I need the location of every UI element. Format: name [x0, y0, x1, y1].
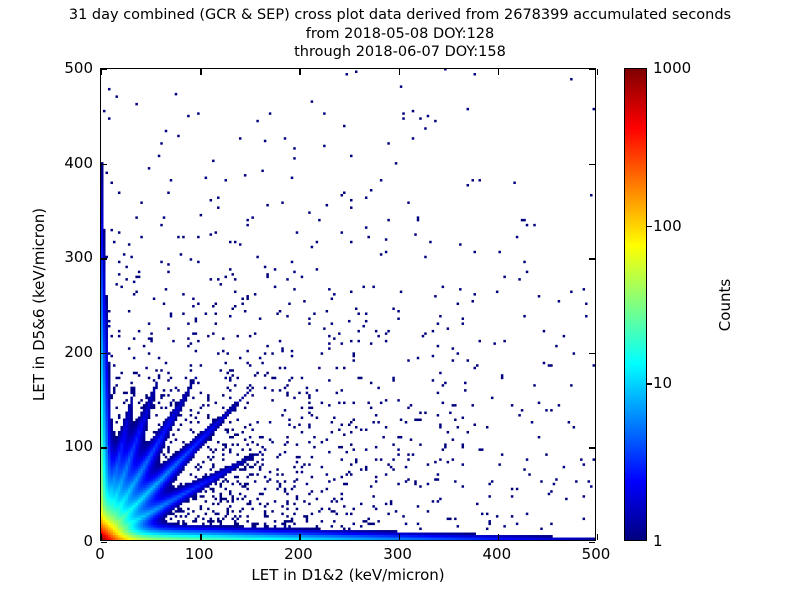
colorbar-tick-100 [647, 226, 652, 227]
x-tick-400 [498, 534, 499, 540]
colorbar-ticklabel-1: 1 [653, 532, 663, 550]
y-tick-100 [101, 447, 107, 448]
y-ticklabel-300: 300 [64, 248, 93, 266]
x-tick-0 [101, 534, 102, 540]
x-axis-label: LET in D1&2 (keV/micron) [100, 566, 596, 584]
scatter-data-layer [101, 69, 595, 540]
colorbar-label: Counts [716, 180, 742, 430]
x-ticklabel-400: 400 [482, 545, 511, 563]
y-tick-200 [101, 353, 107, 354]
x-tick-500 [597, 534, 598, 540]
colorbar-ticklabel-10: 10 [653, 374, 672, 392]
x-tick-100 [200, 69, 201, 75]
x-ticklabel-300: 300 [383, 545, 412, 563]
figure-canvas: 31 day combined (GCR & SEP) cross plot d… [0, 0, 800, 600]
y-tick-500 [101, 69, 107, 70]
x-tick-200 [299, 534, 300, 540]
y-ticklabel-200: 200 [64, 343, 93, 361]
colorbar-gradient [624, 68, 647, 541]
x-ticklabel-500: 500 [582, 545, 611, 563]
y-tick-300 [589, 258, 595, 259]
x-ticklabel-0: 0 [95, 545, 105, 563]
colorbar-ticklabel-1000: 1000 [653, 59, 691, 77]
y-tick-500 [589, 69, 595, 70]
y-ticklabel-500: 500 [64, 59, 93, 77]
title-line-1: 31 day combined (GCR & SEP) cross plot d… [0, 6, 800, 25]
y-ticklabel-400: 400 [64, 154, 93, 172]
y-tick-0 [589, 542, 595, 543]
y-tick-300 [101, 258, 107, 259]
x-ticklabel-100: 100 [185, 545, 214, 563]
plot-title: 31 day combined (GCR & SEP) cross plot d… [0, 6, 800, 62]
y-tick-100 [589, 447, 595, 448]
x-tick-100 [200, 534, 201, 540]
colorbar-tick-10 [647, 383, 652, 384]
y-tick-0 [101, 542, 107, 543]
x-ticklabel-200: 200 [284, 545, 313, 563]
y-tick-400 [101, 164, 107, 165]
y-ticklabel-0: 0 [83, 532, 93, 550]
y-axis-label: LET in D5&6 (keV/micron) [30, 68, 60, 541]
x-tick-300 [399, 69, 400, 75]
colorbar [624, 68, 647, 541]
colorbar-ticklabel-100: 100 [653, 217, 682, 235]
x-tick-400 [498, 69, 499, 75]
y-ticklabel-100: 100 [64, 437, 93, 455]
y-tick-200 [589, 353, 595, 354]
y-tick-400 [589, 164, 595, 165]
x-tick-200 [299, 69, 300, 75]
scatter-plot-axes [100, 68, 596, 541]
x-tick-500 [597, 69, 598, 75]
title-line-2: from 2018-05-08 DOY:128 [0, 25, 800, 44]
x-tick-300 [399, 534, 400, 540]
